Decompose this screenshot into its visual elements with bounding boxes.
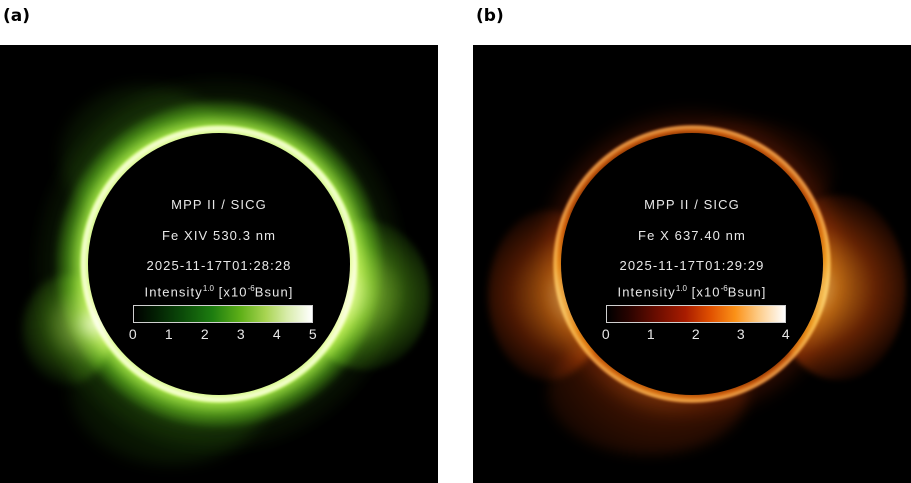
panel-a-label: (a)	[3, 8, 30, 25]
colorbar-tick: 1	[647, 326, 655, 342]
panel-b-units-suffix: Bsun]	[728, 284, 767, 299]
panel-a-colorbar-ticks: 0 1 2 3 4 5	[133, 326, 313, 346]
panel-a-colorbar-group: 0 1 2 3 4 5	[133, 305, 313, 346]
panel-b-colorbar-ticks: 0 1 2 3 4	[606, 326, 786, 346]
colorbar-tick: 2	[692, 326, 700, 342]
panel-b-intensity-prefix: Intensity	[617, 284, 675, 299]
colorbar-tick: 3	[737, 326, 745, 342]
panel-b-label: (b)	[476, 8, 504, 25]
colorbar-tick: 3	[237, 326, 245, 342]
panel-a-instrument: MPP II / SICG	[0, 197, 438, 212]
colorbar-tick: 4	[273, 326, 281, 342]
panel-b-intensity-exponent: 1.0	[676, 284, 687, 293]
panel-a-units-suffix: Bsun]	[255, 284, 294, 299]
colorbar-tick: 1	[165, 326, 173, 342]
panel-b-colorbar-group: 0 1 2 3 4	[606, 305, 786, 346]
panel-b-emission-line: Fe X 637.40 nm	[473, 228, 911, 243]
panel-a-intensity-exponent: 1.0	[203, 284, 214, 293]
panel-b-intensity-label: Intensity1.0 [x10-6Bsun]	[473, 284, 911, 299]
colorbar-tick: 0	[602, 326, 610, 342]
panel-a-image: MPP II / SICG Fe XIV 530.3 nm 2025-11-17…	[0, 45, 438, 483]
panel-b-image: MPP II / SICG Fe X 637.40 nm 2025-11-17T…	[473, 45, 911, 483]
colorbar-tick: 2	[201, 326, 209, 342]
colorbar-tick: 0	[129, 326, 137, 342]
panel-a-units-open: [x10	[219, 284, 248, 299]
panel-b-units-open: [x10	[692, 284, 721, 299]
solar-corona-figure: (a) MPP II / SICG Fe XIV 530.3 nm 2025-1…	[0, 0, 911, 483]
colorbar-tick: 4	[782, 326, 790, 342]
panel-b-timestamp: 2025-11-17T01:29:29	[473, 258, 911, 273]
panel-a-emission-line: Fe XIV 530.3 nm	[0, 228, 438, 243]
panel-a-timestamp: 2025-11-17T01:28:28	[0, 258, 438, 273]
panel-a-colorbar	[133, 305, 313, 323]
panel-a-units-exponent: -6	[248, 284, 255, 293]
panel-a-intensity-label: Intensity1.0 [x10-6Bsun]	[0, 284, 438, 299]
panel-a-intensity-prefix: Intensity	[144, 284, 202, 299]
colorbar-tick: 5	[309, 326, 317, 342]
panel-b-instrument: MPP II / SICG	[473, 197, 911, 212]
panel-b-units-exponent: -6	[721, 284, 728, 293]
panel-b-colorbar	[606, 305, 786, 323]
